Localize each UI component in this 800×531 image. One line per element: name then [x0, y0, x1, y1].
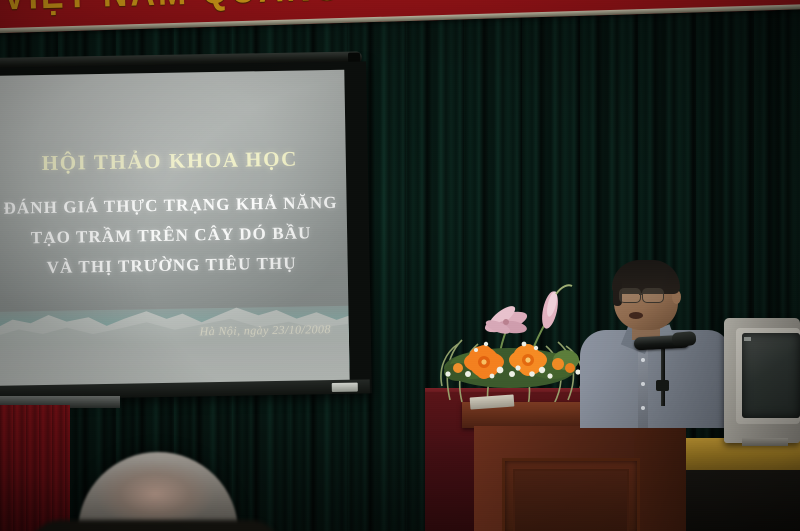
microphone-joint [656, 380, 669, 391]
conference-photo: N VIỆT NAM QUANG VINH MUÔN HỘI THẢO KHOA… [0, 0, 800, 531]
slide-date: Hà Nội, ngày 23/10/2008 [199, 322, 330, 339]
orange-bud [453, 363, 463, 373]
shirt-button [641, 358, 645, 362]
shirt-button [641, 382, 645, 386]
microphone-stem [661, 346, 665, 406]
screen-surface: HỘI THẢO KHOA HỌC ĐÁNH GIÁ THỰC TRẠNG KH… [0, 70, 350, 388]
projection-screen: HỘI THẢO KHOA HỌC ĐÁNH GIÁ THỰC TRẠNG KH… [0, 51, 374, 413]
red-side-curtain [0, 405, 70, 531]
crt-monitor-stand [742, 438, 788, 446]
slide-title: HỘI THẢO KHOA HỌC [0, 146, 346, 177]
side-desk-front [686, 470, 800, 531]
crt-monitor-indicator [744, 337, 751, 341]
screen-frame: HỘI THẢO KHOA HỌC ĐÁNH GIÁ THỰC TRẠNG KH… [0, 61, 372, 400]
shirt-button [641, 406, 645, 410]
podium-side-panel [634, 418, 686, 531]
presenter-shirt-placket [638, 344, 648, 428]
eyeglasses-bridge [639, 293, 643, 295]
audience-member-shoulders [30, 520, 280, 531]
pink-lily-bud [539, 285, 572, 330]
presenter-mouth [629, 312, 643, 319]
eyeglasses-lens-left [619, 288, 641, 303]
pink-lily-open [483, 302, 530, 336]
crt-monitor-screen [742, 333, 800, 418]
slide-body: ĐÁNH GIÁ THỰC TRẠNG KHẢ NĂNG TẠO TRẦM TR… [0, 188, 348, 284]
screen-brand-label [332, 383, 358, 392]
presentation-slide: HỘI THẢO KHOA HỌC ĐÁNH GIÁ THỰC TRẠNG KH… [0, 70, 350, 388]
microphone-head-secondary [671, 331, 696, 347]
orange-bud [552, 358, 564, 370]
podium-panel-inner [513, 469, 629, 531]
slide-line: VÀ THỊ TRƯỜNG TIÊU THỤ [0, 248, 348, 284]
eyeglasses-lens-right [642, 288, 664, 303]
podium-front-panel [502, 458, 640, 531]
flower-arrangement [428, 282, 593, 407]
